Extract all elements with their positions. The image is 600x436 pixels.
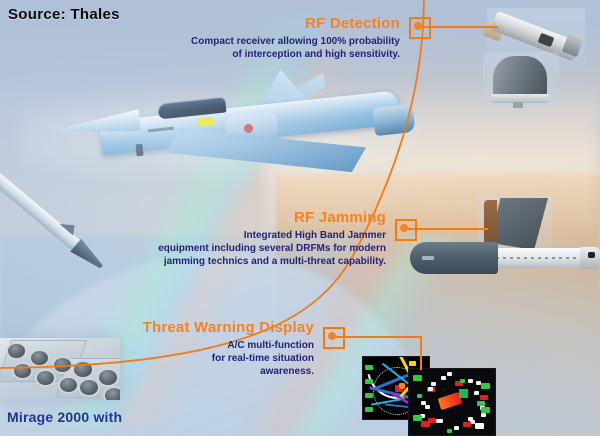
callout-rf-jamming-line-2: equipment including several DRFMs for mo… — [100, 242, 386, 255]
radar-symbol — [417, 394, 422, 398]
radar-symbol — [436, 419, 441, 423]
source-label: Source: Thales — [8, 6, 120, 23]
dispenser-tube — [8, 344, 25, 358]
radar-symbol — [447, 429, 452, 433]
radar-symbol — [421, 421, 430, 427]
radar-symbol — [428, 387, 433, 391]
image-caption: Mirage 2000 with — [7, 409, 122, 425]
radar-symbol — [481, 383, 490, 389]
rf-jamming-pod-photo — [410, 236, 600, 286]
rf-detection-radome-photo — [483, 52, 559, 108]
radar-symbol — [481, 413, 486, 417]
callout-rf-jamming-line-3: jamming technics and a multi-threat capa… — [100, 255, 386, 268]
node-rf-jamming[interactable] — [395, 219, 417, 241]
callout-rf-jamming-title: RF Jamming — [100, 210, 386, 226]
callout-threat-warning-line-1: A/C multi-function — [60, 339, 314, 352]
radome-shell — [493, 56, 547, 98]
radar-symbol — [447, 372, 452, 376]
dispenser-tube — [105, 388, 120, 400]
callout-threat-warning-body: A/C multi-function for real-time situati… — [60, 339, 314, 378]
radar-symbol — [441, 376, 446, 380]
radar-symbol — [474, 391, 479, 395]
callout-rf-detection-line-2: of interception and high sensitivity. — [120, 48, 400, 61]
callout-rf-detection-line-1: Compact receiver allowing 100% probabili… — [120, 35, 400, 48]
radome-mount — [513, 102, 523, 108]
callout-rf-detection: RF Detection Compact receiver allowing 1… — [120, 16, 400, 61]
callout-rf-detection-title: RF Detection — [120, 16, 400, 32]
leader-threat-warning-h — [332, 336, 422, 338]
radar-symbol — [365, 393, 373, 398]
radar-symbol — [475, 423, 484, 429]
radar-symbol — [425, 405, 430, 409]
node-rf-detection[interactable] — [409, 17, 431, 39]
radar-symbol — [468, 417, 473, 421]
ownship-heading-marker — [459, 389, 468, 398]
jammer-pod-seam — [496, 257, 582, 259]
radar-symbol — [365, 379, 373, 384]
radar-symbol — [431, 382, 436, 386]
radar-symbol — [481, 407, 490, 413]
jammer-pod-window — [588, 252, 595, 258]
callout-rf-jamming: RF Jamming Integrated High Band Jammer e… — [100, 210, 386, 268]
radar-symbol — [365, 407, 373, 412]
radar-symbol — [463, 422, 471, 427]
node-threat-warning[interactable] — [323, 327, 345, 349]
radar-symbol — [399, 383, 405, 389]
callout-threat-warning-title: Threat Warning Display — [60, 320, 314, 336]
radar-symbol — [480, 395, 488, 400]
dispenser-tube — [37, 371, 54, 385]
leader-threat-warning-v — [420, 336, 422, 370]
radar-symbol — [460, 379, 465, 383]
threat-warning-display-screen-right — [408, 368, 496, 436]
callout-threat-warning-display: Threat Warning Display A/C multi-functio… — [60, 320, 314, 378]
radar-symbol — [413, 375, 422, 381]
callout-threat-warning-line-2: for real-time situation — [60, 352, 314, 365]
callout-rf-jamming-body: Integrated High Band Jammer equipment in… — [100, 229, 386, 268]
infographic-canvas: RF Detection Compact receiver allowing 1… — [0, 0, 600, 436]
radar-symbol — [409, 361, 416, 366]
missile-body — [0, 168, 86, 255]
dispenser-tube — [80, 380, 98, 395]
callout-rf-detection-body: Compact receiver allowing 100% probabili… — [120, 35, 400, 61]
dispenser-tube — [31, 351, 48, 365]
radar-symbol — [365, 365, 373, 370]
dispenser-tube — [60, 378, 77, 392]
radar-symbol — [468, 379, 473, 383]
dispenser-tube — [14, 364, 31, 378]
jammer-pod-tail — [580, 247, 600, 269]
callout-threat-warning-line-3: awareness. — [60, 365, 314, 378]
radar-symbol — [454, 426, 459, 430]
radar-symbol — [421, 401, 426, 405]
callout-rf-jamming-line-1: Integrated High Band Jammer — [100, 229, 386, 242]
air-to-air-missile — [0, 168, 112, 260]
jammer-pod-label — [422, 256, 434, 260]
